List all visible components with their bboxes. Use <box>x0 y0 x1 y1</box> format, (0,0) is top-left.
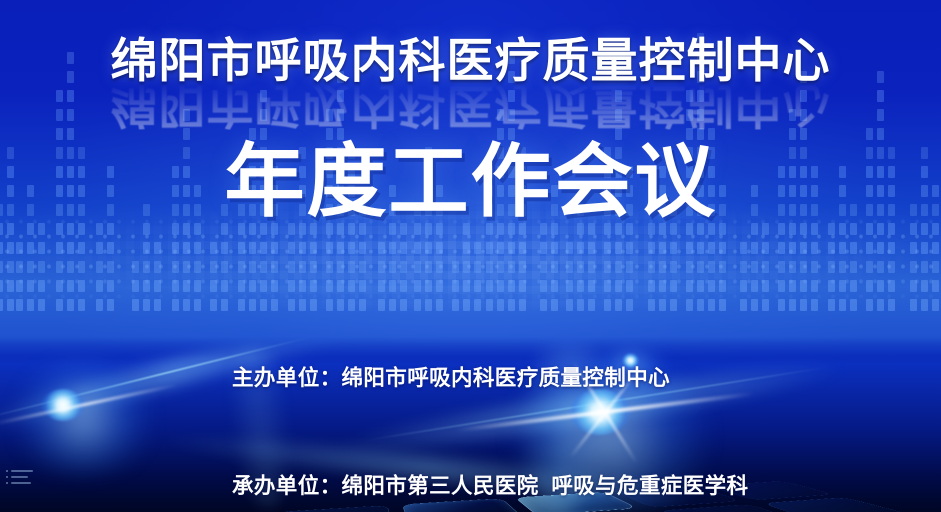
header-title-reflection: 绵阳市呼吸内科医疗质量控制中心 <box>0 80 941 130</box>
header-title: 绵阳市呼吸内科医疗质量控制中心 <box>0 36 941 86</box>
tech-tile <box>762 497 913 512</box>
presentation-title-slide: 绵阳市呼吸内科医疗质量控制中心 绵阳市呼吸内科医疗质量控制中心 年度工作会议 主… <box>0 0 941 512</box>
main-title: 年度工作会议 <box>0 139 941 225</box>
info-line-organizer: 主办单位：绵阳市呼吸内科医疗质量控制中心 <box>232 360 748 396</box>
info-block: 主办单位：绵阳市呼吸内科医疗质量控制中心 承办单位：绵阳市第三人民医院 呼吸与危… <box>232 288 748 512</box>
decorative-microtext <box>6 470 33 488</box>
header-title-block: 绵阳市呼吸内科医疗质量控制中心 绵阳市呼吸内科医疗质量控制中心 <box>0 36 941 130</box>
glow-halo <box>8 363 158 473</box>
info-line-host: 承办单位：绵阳市第三人民医院 呼吸与危重症医学科 <box>232 468 748 504</box>
